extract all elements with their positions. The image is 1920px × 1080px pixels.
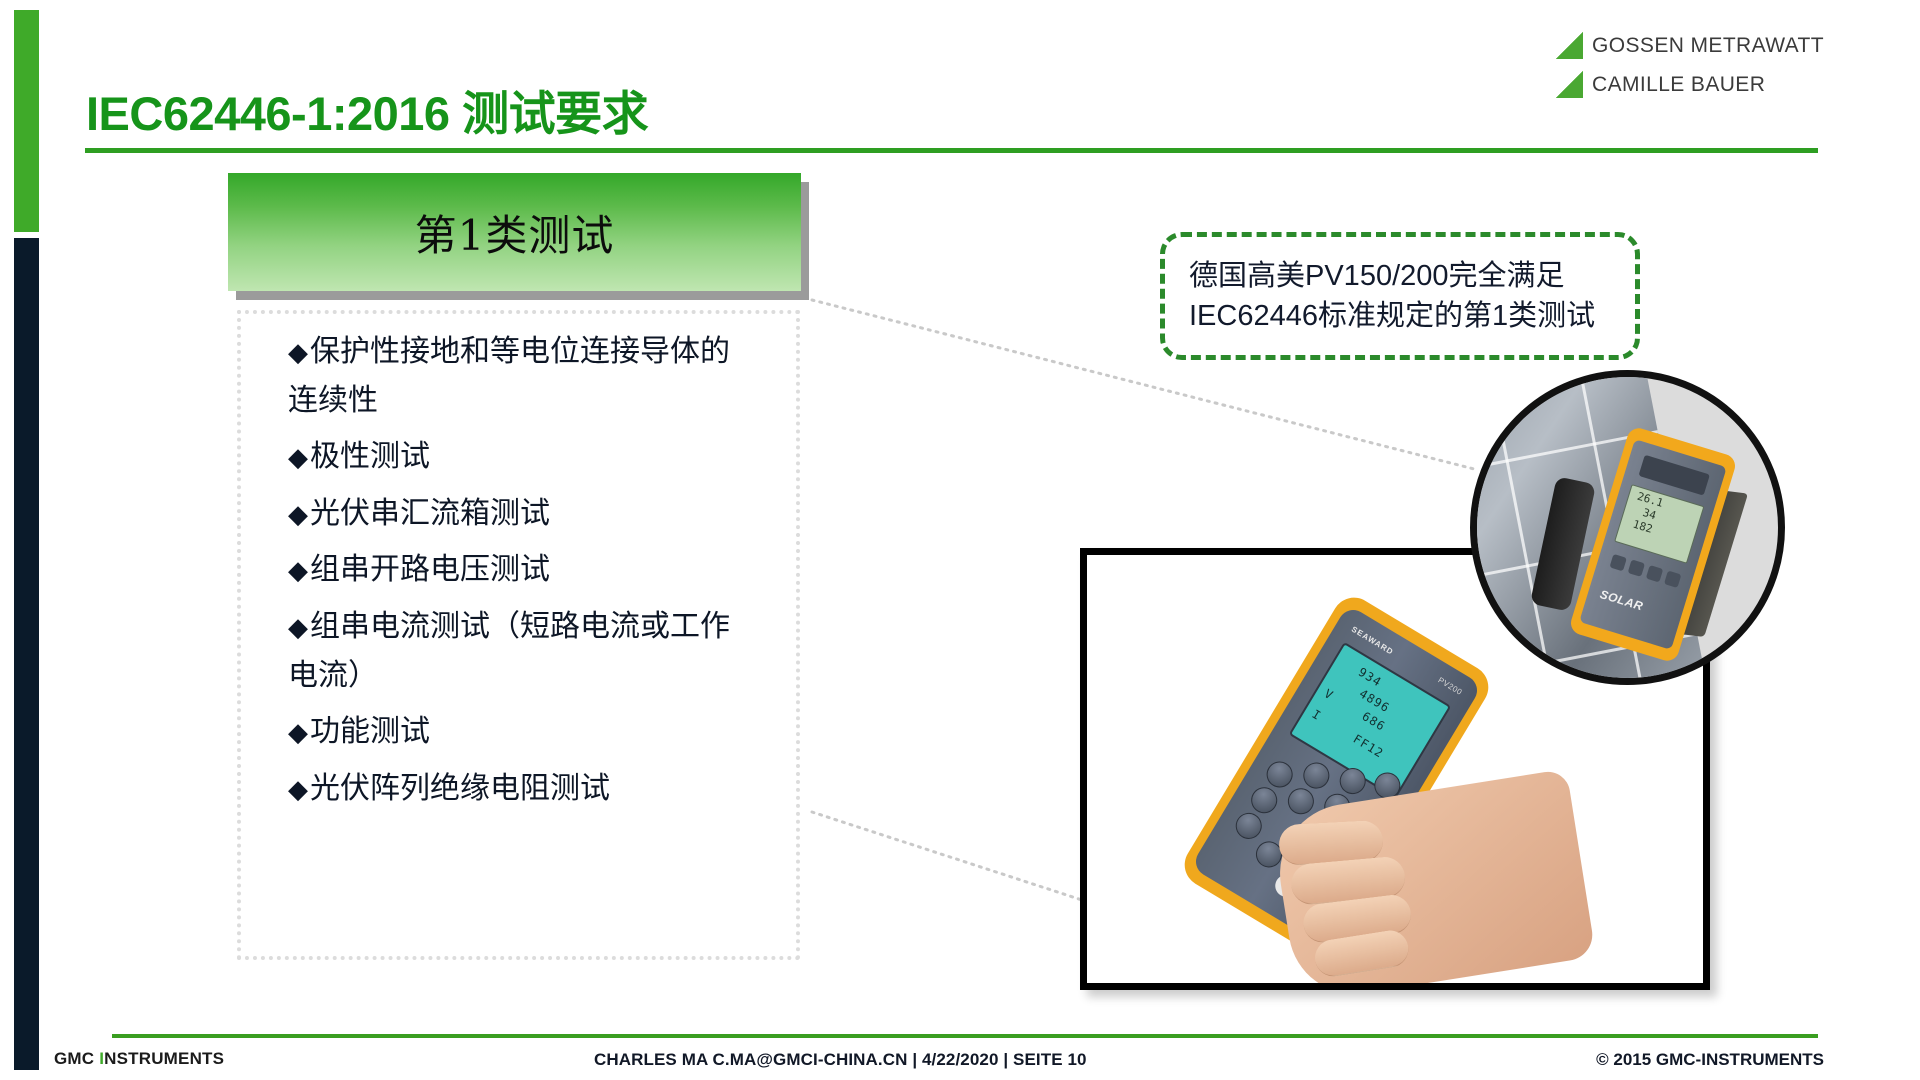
callout-box: 德国高美PV150/200完全满足 IEC62446标准规定的第1类测试 xyxy=(1160,232,1640,360)
lcd-reading-1: 934 xyxy=(1356,665,1384,690)
lcd-unit-i: I xyxy=(1310,707,1324,723)
product-photo-inset: 26.1 34 182 SOLAR xyxy=(1470,370,1785,685)
meter-key xyxy=(1664,571,1681,588)
lcd-reading-2: 4896 xyxy=(1357,686,1392,715)
footer-copyright: © 2015 GMC-INSTRUMENTS xyxy=(1596,1050,1824,1070)
footer-brand-prefix: GMC xyxy=(54,1049,99,1068)
meter-key xyxy=(1628,559,1645,576)
meter-brand-label: SOLAR xyxy=(1599,587,1646,613)
meter-key xyxy=(1646,565,1663,582)
footer-brand: GMC INSTRUMENTS xyxy=(54,1049,224,1069)
callout-line-1: 德国高美PV150/200完全满足 xyxy=(1189,256,1635,296)
footer-brand-suffix: NSTRUMENTS xyxy=(104,1049,224,1068)
device-model-label: PV200 xyxy=(1437,676,1464,697)
lcd-reading-4: FF12 xyxy=(1351,732,1386,761)
device-key xyxy=(1231,808,1267,844)
lcd-unit-v: V xyxy=(1322,686,1336,702)
footer-meta: CHARLES MA C.MA@GMCI-CHINA.CN | 4/22/202… xyxy=(594,1050,1087,1070)
callout-line-2: IEC62446标准规定的第1类测试 xyxy=(1189,296,1635,336)
footer-divider xyxy=(112,1034,1818,1038)
meter-key xyxy=(1609,554,1626,571)
